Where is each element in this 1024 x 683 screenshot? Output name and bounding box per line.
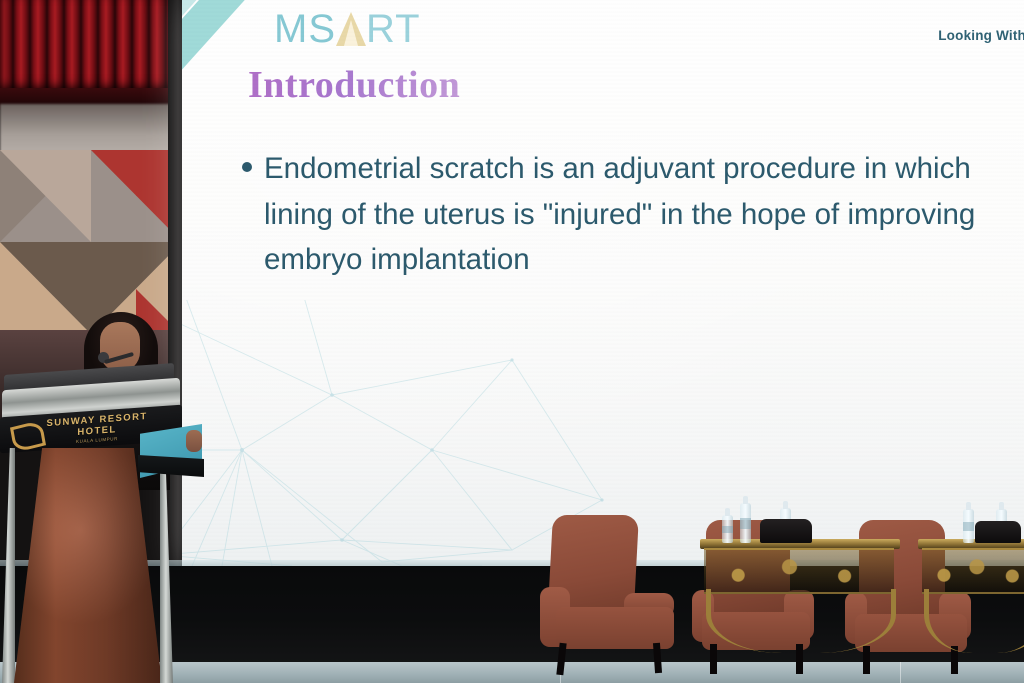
- msart-logo-suffix: RT: [366, 7, 421, 51]
- bullet-line-3: embryo implantation: [242, 237, 1024, 283]
- lectern-wood-column: [14, 448, 162, 683]
- msart-logo-prefix: MS: [274, 7, 336, 51]
- lectern-brand-text: SUNWAY RESORT HOTEL KUALA LUMPUR: [42, 412, 152, 447]
- lectern: SUNWAY RESORT HOTEL KUALA LUMPUR: [0, 364, 192, 683]
- side-table-1: [700, 539, 900, 659]
- geometric-wall-panel: [0, 150, 182, 335]
- bullet-line-1: Endometrial scratch is an adjuvant proce…: [242, 146, 1024, 192]
- red-curtain: [0, 0, 182, 92]
- slide-body-text: Endometrial scratch is an adjuvant proce…: [242, 146, 1024, 283]
- bullet-line-1-text: Endometrial scratch is an adjuvant proce…: [264, 152, 971, 185]
- water-bottle-2: [740, 503, 751, 543]
- lectern-right-rail: [160, 448, 173, 683]
- bullet-dot-icon: [242, 162, 252, 172]
- sunway-swoosh-icon: [10, 420, 46, 453]
- bullet-line-2: lining of the uterus is "injured" in the…: [242, 192, 1024, 238]
- lectern-left-rail: [2, 448, 15, 683]
- table-dark-object-2: [975, 521, 1021, 543]
- water-bottle-1: [722, 515, 733, 543]
- wall-upper-band: [0, 104, 182, 156]
- slide-title: Introduction: [248, 63, 460, 107]
- screenshot-root: MSRT Introduction Looking With Endometri…: [0, 0, 1024, 683]
- projection-screen: MSRT Introduction Looking With Endometri…: [182, 0, 1024, 566]
- msart-a-triangle-icon: [336, 12, 366, 46]
- water-bottle-4: [963, 509, 974, 543]
- side-table-2: [918, 539, 1024, 659]
- presenter-hand: [186, 430, 202, 452]
- table-dark-object-1: [760, 519, 812, 543]
- panel-chair-1: [536, 515, 676, 665]
- msart-logo: MSRT: [274, 9, 421, 49]
- slide-corner-note: Looking With: [938, 28, 1024, 43]
